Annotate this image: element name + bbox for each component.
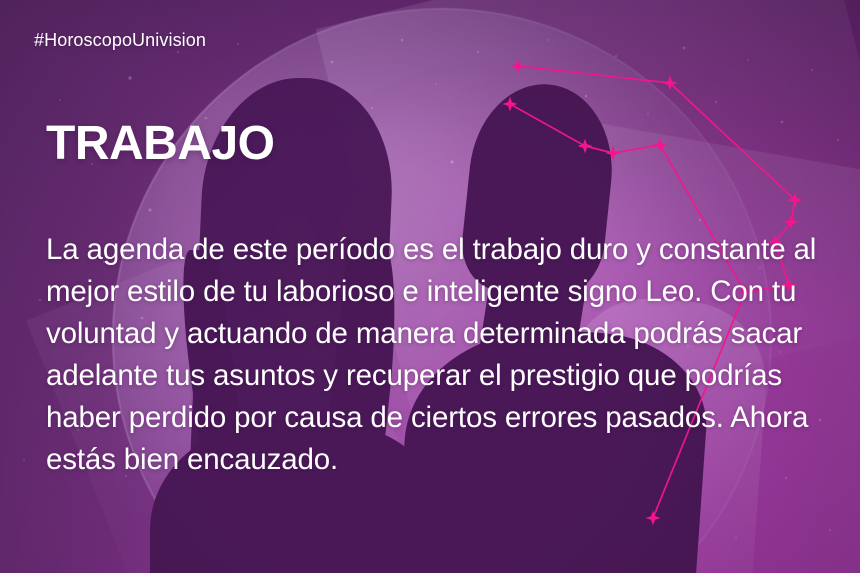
card-content: #HoroscopoUnivision TRABAJO La agenda de… [0,0,860,573]
hashtag-label: #HoroscopoUnivision [34,30,206,51]
horoscope-body-text: La agenda de este período es el trabajo … [46,229,836,481]
horoscope-card: #HoroscopoUnivision TRABAJO La agenda de… [0,0,860,573]
page-title: TRABAJO [46,120,275,168]
